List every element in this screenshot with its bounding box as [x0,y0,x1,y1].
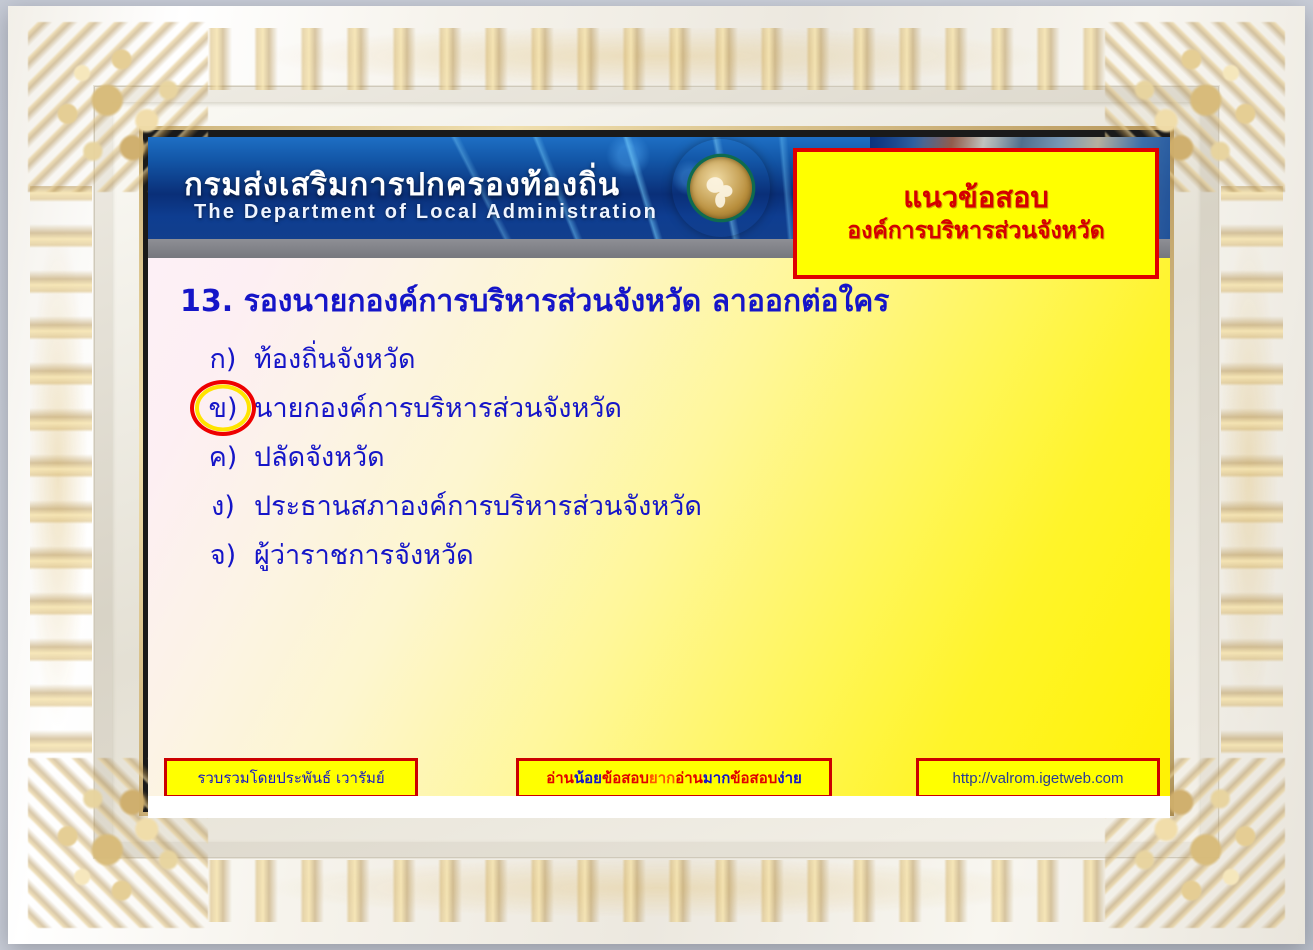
slogan-segment: ข้อสอบ [602,766,649,790]
option-row[interactable]: ค)ปลัดจังหวัด [192,432,1122,481]
department-seal-icon [672,139,770,237]
footer-url-box[interactable]: http://valrom.igetweb.com [916,758,1160,798]
option-key: ข) [192,386,254,429]
exam-title-box: แนวข้อสอบ องค์การบริหารส่วนจังหวัด [793,148,1159,279]
footer-slogan-box: อ่านน้อยข้อสอบยาก อ่านมากข้อสอบง่าย [516,758,832,798]
footer-bar: รวบรวมโดยประพันธ์ เวารัมย์ อ่านน้อยข้อสอ… [148,758,1170,794]
slogan-segment: อ่าน [675,766,703,790]
slide-bottom-margin [148,796,1170,818]
footer-credit-box: รวบรวมโดยประพันธ์ เวารัมย์ [164,758,418,798]
option-row[interactable]: ก)ท้องถิ่นจังหวัด [192,334,1122,383]
question-text: 13. รองนายกองค์การบริหารส่วนจังหวัด ลาออ… [180,278,889,325]
exam-title-line1: แนวข้อสอบ [903,181,1049,214]
option-key: จ) [192,533,254,576]
slogan-segment: อ่าน [546,766,574,790]
frame-ornament-left-rail [30,186,92,764]
option-text: ประธานสภาองค์การบริหารส่วนจังหวัด [254,484,702,527]
option-key: ก) [192,337,254,380]
frame-ornament-bottom-rail [198,860,1115,922]
slogan-segment: ยาก [649,766,675,790]
option-text: นายกองค์การบริหารส่วนจังหวัด [254,386,622,429]
option-key-label: ค) [209,442,238,473]
option-row[interactable]: จ)ผู้ว่าราชการจังหวัด [192,530,1122,579]
frame-ornament-top-rail [198,28,1115,90]
slogan-segment: ง่าย [777,766,802,790]
exam-title-line2: องค์การบริหารส่วนจังหวัด [847,218,1104,246]
option-key-label: จ) [210,540,236,571]
option-key-label: ง) [211,491,235,522]
frame-ornament-right-rail [1221,186,1283,764]
slogan-segment: ข้อสอบ [730,766,777,790]
option-key-label: ข) [209,393,238,424]
option-key: ง) [192,484,254,527]
option-text: ท้องถิ่นจังหวัด [254,337,416,380]
options-list: ก)ท้องถิ่นจังหวัดข)นายกองค์การบริหารส่วน… [192,334,1122,579]
seal-inner-disc [690,157,752,219]
slide: กรมส่งเสริมการปกครองท้องถิ่น The Departm… [148,137,1170,818]
option-key-label: ก) [210,344,237,375]
frame-stage: กรมส่งเสริมการปกครองท้องถิ่น The Departm… [0,0,1313,950]
slide-content: 13. รองนายกองค์การบริหารส่วนจังหวัด ลาออ… [148,258,1170,818]
option-row[interactable]: ง)ประธานสภาองค์การบริหารส่วนจังหวัด [192,481,1122,530]
org-name-en: The Department of Local Administration [194,201,658,224]
seal-lion-icon [701,169,741,209]
option-row[interactable]: ข)นายกองค์การบริหารส่วนจังหวัด [192,383,1122,432]
slogan-segment: มาก [703,766,730,790]
option-key: ค) [192,435,254,478]
slogan-segment: น้อย [574,766,602,790]
option-text: ปลัดจังหวัด [254,435,385,478]
option-text: ผู้ว่าราชการจังหวัด [254,533,474,576]
